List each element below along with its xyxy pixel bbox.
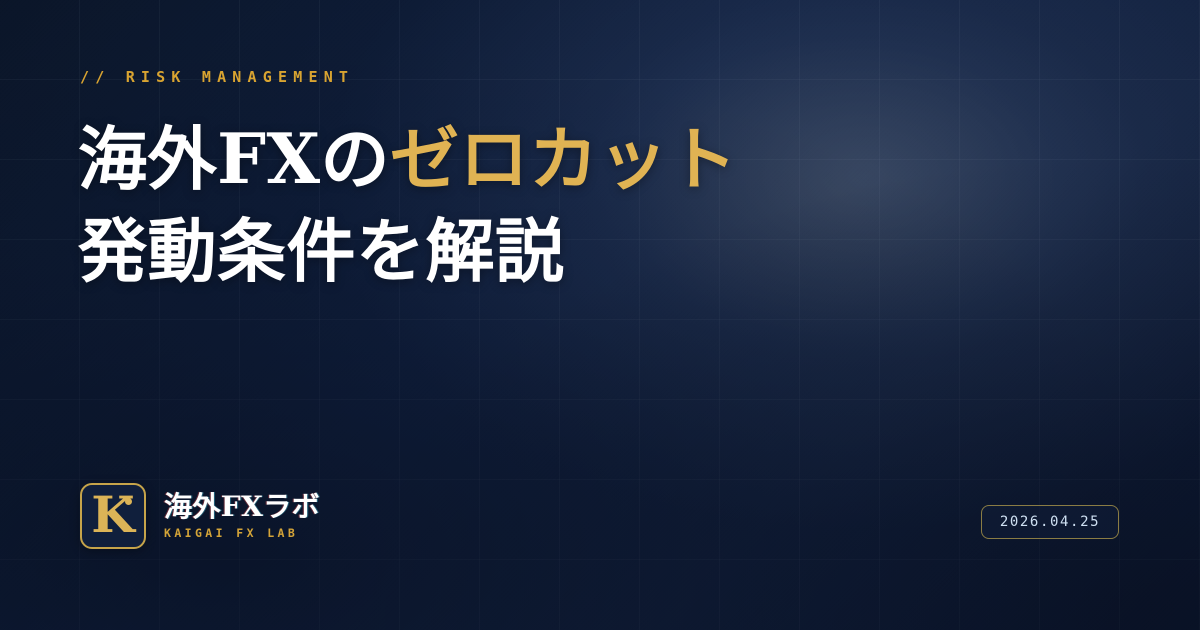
logo-dot-icon (125, 498, 132, 505)
card-content: // RISK MANAGEMENT 海外FXのゼロカット 発動条件を解説 K … (0, 0, 1200, 630)
logo-mark: K (80, 483, 146, 549)
title-line-1-primary: 海外FXの (78, 119, 390, 200)
title-line-1-accent: ゼロカット (390, 119, 738, 200)
publish-date-badge: 2026.04.25 (981, 505, 1119, 539)
brand-text: 海外FXラボ KAIGAI FX LAB (164, 492, 320, 539)
category-eyebrow: // RISK MANAGEMENT (80, 68, 354, 86)
brand-name: 海外FXラボ (164, 492, 320, 522)
page-title: 海外FXのゼロカット 発動条件を解説 (78, 114, 738, 298)
brand-lockup: K 海外FXラボ KAIGAI FX LAB (80, 483, 320, 549)
publish-date-text: 2026.04.25 (1000, 514, 1100, 530)
title-line-1: 海外FXのゼロカット (78, 114, 738, 206)
title-line-2: 発動条件を解説 (78, 206, 738, 298)
brand-subtitle: KAIGAI FX LAB (164, 526, 320, 540)
ogp-card: // RISK MANAGEMENT 海外FXのゼロカット 発動条件を解説 K … (0, 0, 1200, 630)
